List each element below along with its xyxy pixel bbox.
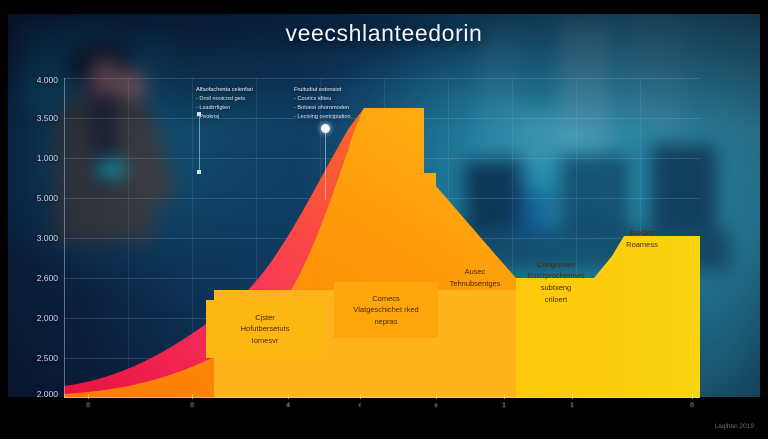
- annotation-right-heading: Fruitudiut estonsiot: [294, 86, 351, 95]
- annotation-right-marker-dot: [321, 124, 330, 133]
- x-tick-label: 1: [570, 402, 574, 409]
- annotation-left-marker: [197, 112, 201, 116]
- x-tick-label: 0: [86, 402, 90, 409]
- callout-box-4-line-4: criloert: [527, 294, 585, 306]
- callout-box-3[interactable]: Ausec Tehnubsentges: [432, 258, 518, 298]
- y-tick-label: 3.500: [37, 113, 58, 123]
- x-tick: [572, 394, 573, 399]
- y-tick-label: 2.600: [37, 273, 58, 283]
- callout-box-5-line-2: Roamess: [626, 239, 658, 251]
- top-letterbox-bar: [0, 0, 768, 14]
- callout-box-3-line-1: Ausec: [450, 266, 501, 278]
- callout-box-5[interactable]: Auxdes Roamess: [600, 222, 684, 256]
- callout-box-1-line-1: Cjster: [241, 312, 290, 324]
- y-tick-label: 3.000: [37, 233, 58, 243]
- x-tick-label: 0: [190, 402, 194, 409]
- annotation-right-bullet-3: - Leciving ovetcipiation: [294, 113, 351, 122]
- x-tick: [436, 394, 437, 399]
- callout-box-5-line-1: Auxdes: [626, 227, 658, 239]
- right-letterbox-bar: [760, 0, 768, 439]
- x-tick-label: s: [434, 402, 437, 409]
- y-tick-label: 1.000: [37, 153, 58, 163]
- callout-box-3-line-2: Tehnubsentges: [450, 278, 501, 290]
- x-tick: [192, 394, 193, 399]
- callout-box-1[interactable]: Cjster Hofutbersetuts Iomesvr: [206, 300, 324, 358]
- footer-credit: Laqlhan 2019: [715, 423, 754, 430]
- annotation-right-leader-line: [325, 130, 326, 200]
- x-tick: [88, 394, 89, 399]
- y-tick-label: 2.000: [37, 313, 58, 323]
- annotation-right-bullet-2: - Botoesi ohoromoden: [294, 104, 351, 113]
- annotation-left-heading: Alfaofachenta celenfari: [196, 86, 253, 95]
- x-tick-label: r: [359, 402, 361, 409]
- callout-box-4-line-2: Eurcrprochermes: [527, 270, 585, 282]
- annotation-left-bullet-2: - Lsadirrfigten: [196, 104, 253, 113]
- x-tick-label: 4: [286, 402, 290, 409]
- annotation-left-leader-line: [199, 112, 200, 170]
- annotation-left-bullet-3: - Peoknsj: [196, 113, 253, 122]
- callout-box-1-line-3: Iomesvr: [241, 335, 290, 347]
- left-letterbox-bar: [0, 0, 8, 439]
- y-tick-label: 2.500: [37, 353, 58, 363]
- annotation-right: Fruitudiut estonsiot - Courics iditeu - …: [294, 86, 351, 122]
- callout-box-2-line-1: Comecs: [353, 293, 418, 305]
- bottom-letterbox-bar: [0, 397, 768, 439]
- x-tick-label: 1: [502, 402, 506, 409]
- callout-box-4-line-1: Congrinses: [527, 259, 585, 271]
- annotation-left-bullet-1: - Droil nooicosl gets: [196, 95, 253, 104]
- y-tick-label: 4.000: [37, 75, 58, 85]
- x-tick-label: 0: [690, 402, 694, 409]
- callout-box-1-line-2: Hofutbersetuts: [241, 323, 290, 335]
- callout-box-2[interactable]: Comecs Vlatgeschichet rked nepras: [334, 282, 438, 338]
- annotation-left-marker-end: [197, 170, 201, 174]
- callout-box-4[interactable]: Congrinses Eurcrprochermes subtxeng cril…: [512, 256, 600, 308]
- y-tick-label: 2.000: [37, 389, 58, 399]
- callout-box-4-line-3: subtxeng: [527, 282, 585, 294]
- x-tick: [288, 394, 289, 399]
- x-tick: [504, 394, 505, 399]
- page-title: veecshlanteedorin: [0, 20, 768, 47]
- annotation-right-bullet-1: - Courics iditeu: [294, 95, 351, 104]
- x-tick: [360, 394, 361, 399]
- annotation-left: Alfaofachenta celenfari - Droil nooicosl…: [196, 86, 253, 122]
- callout-box-2-line-3: nepras: [353, 316, 418, 328]
- callout-box-2-line-2: Vlatgeschichet rked: [353, 304, 418, 316]
- x-tick: [692, 394, 693, 399]
- screenshot-canvas: veecshlanteedorin: [0, 0, 768, 439]
- y-tick-label: 5.000: [37, 193, 58, 203]
